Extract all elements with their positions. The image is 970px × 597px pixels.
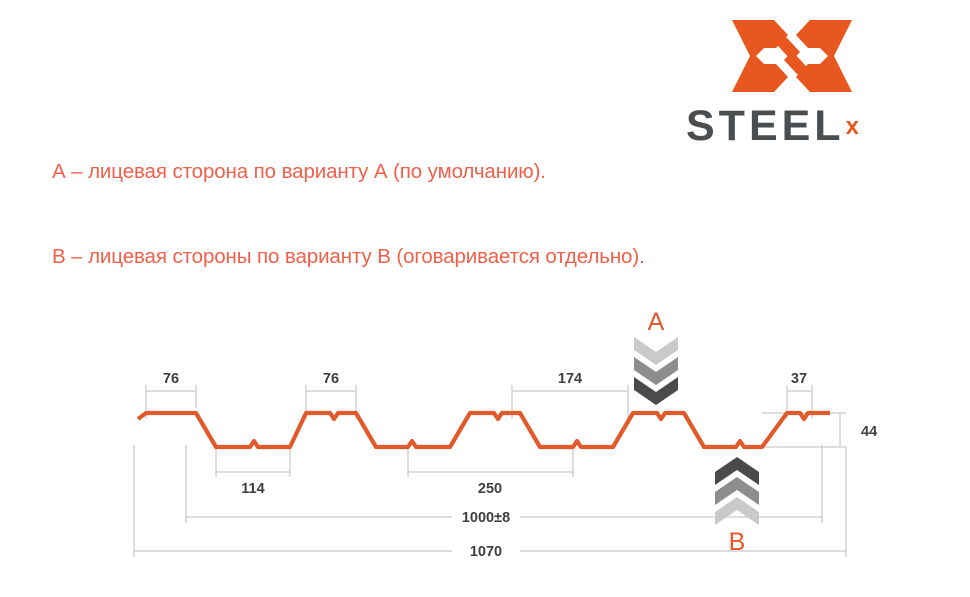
dimension-label-37: 37 (791, 371, 807, 387)
marker-a-label: A (648, 308, 665, 336)
caption-variant-b: В – лицевая стороны по варианту В (огова… (52, 245, 645, 269)
brand-logo: STEELx (686, 18, 902, 144)
caption-variant-a: А – лицевая сторона по варианту А (по ум… (52, 160, 546, 184)
corrugated-profile-line (138, 413, 830, 447)
dimension-label-working-width: 1000±8 (462, 510, 510, 526)
brand-name-text: STEEL (686, 105, 845, 148)
chevron-up-icon-group (715, 457, 759, 525)
dimension-label-174: 174 (558, 371, 582, 387)
dimension-label-76-left: 76 (163, 371, 179, 387)
face-marker-a: A (634, 308, 678, 405)
dimension-label-44-height: 44 (861, 424, 877, 440)
dimension-label-overall-width: 1070 (470, 544, 502, 560)
dimension-label-76-mid: 76 (323, 371, 339, 387)
profile-technical-drawing: 76 114 76 250 174 37 44 1000±8 1070 A (0, 295, 970, 585)
face-marker-b: B (715, 457, 759, 556)
brand-wordmark: STEELx (686, 104, 902, 148)
chevron-down-icon-group (634, 337, 678, 405)
dimension-label-114: 114 (241, 481, 264, 497)
drawing-page: STEELx А – лицевая сторона по варианту А… (0, 0, 970, 597)
dimension-label-250: 250 (478, 481, 502, 497)
marker-b-label: B (729, 528, 746, 556)
brand-superscript-x: x (846, 115, 859, 139)
steel-x-logo-mark-icon (730, 18, 854, 94)
